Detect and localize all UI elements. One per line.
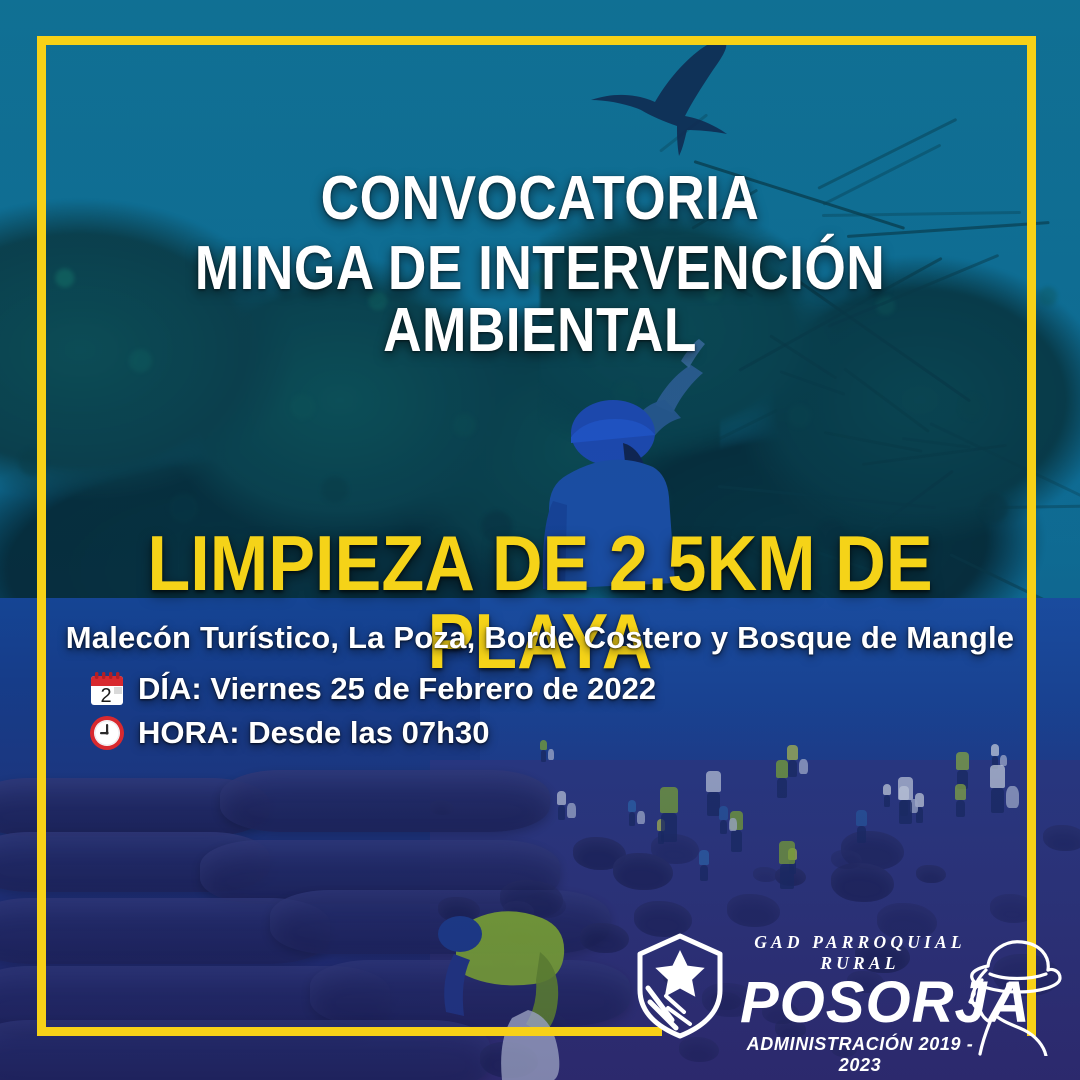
frame-top bbox=[37, 36, 1036, 45]
logo-administration: ADMINISTRACIÓN 2019 - 2023 bbox=[740, 1034, 980, 1076]
poster: CONVOCATORIA MINGA DE INTERVENCIÓN AMBIE… bbox=[0, 0, 1080, 1080]
event-details: 2 DÍA: Viernes 25 de Febrero de 2022 HOR… bbox=[88, 670, 656, 758]
clock-icon bbox=[88, 714, 126, 752]
frigate-bird-silhouette-icon bbox=[585, 38, 785, 158]
headline-block: CONVOCATORIA MINGA DE INTERVENCIÓN AMBIE… bbox=[0, 168, 1080, 362]
detail-day-text: DÍA: Viernes 25 de Febrero de 2022 bbox=[138, 671, 656, 707]
detail-row-time: HORA: Desde las 07h30 bbox=[88, 714, 656, 752]
logo-block: GAD PARROQUIAL RURAL POSORJA ADMINISTRAC… bbox=[628, 920, 1068, 1065]
detail-day-value: Viernes 25 de Febrero de 2022 bbox=[210, 671, 656, 706]
detail-row-day: 2 DÍA: Viernes 25 de Febrero de 2022 bbox=[88, 670, 656, 708]
shield-star-icon bbox=[632, 932, 728, 1040]
subtitle: Malecón Turístico, La Poza, Borde Coster… bbox=[0, 620, 1080, 656]
logo-text-block: GAD PARROQUIAL RURAL POSORJA ADMINISTRAC… bbox=[740, 932, 980, 1076]
detail-time-label: HORA: bbox=[138, 715, 240, 750]
man-with-hat-icon bbox=[960, 928, 1070, 1056]
logo-org-name: POSORJA bbox=[740, 975, 980, 1032]
logo-org-prefix: GAD PARROQUIAL RURAL bbox=[740, 932, 980, 974]
frame-bottom bbox=[37, 1027, 662, 1036]
detail-time-value: Desde las 07h30 bbox=[248, 715, 489, 750]
detail-day-label: DÍA: bbox=[138, 671, 202, 706]
main-title: LIMPIEZA DE 2.5KM DE PLAYA bbox=[54, 524, 1026, 680]
headline-line2: MINGA DE INTERVENCIÓN AMBIENTAL bbox=[76, 238, 1005, 362]
headline-line1: CONVOCATORIA bbox=[76, 168, 1005, 230]
detail-time-text: HORA: Desde las 07h30 bbox=[138, 715, 490, 751]
calendar-day-number: 2 bbox=[100, 685, 111, 707]
calendar-icon: 2 bbox=[88, 670, 126, 708]
